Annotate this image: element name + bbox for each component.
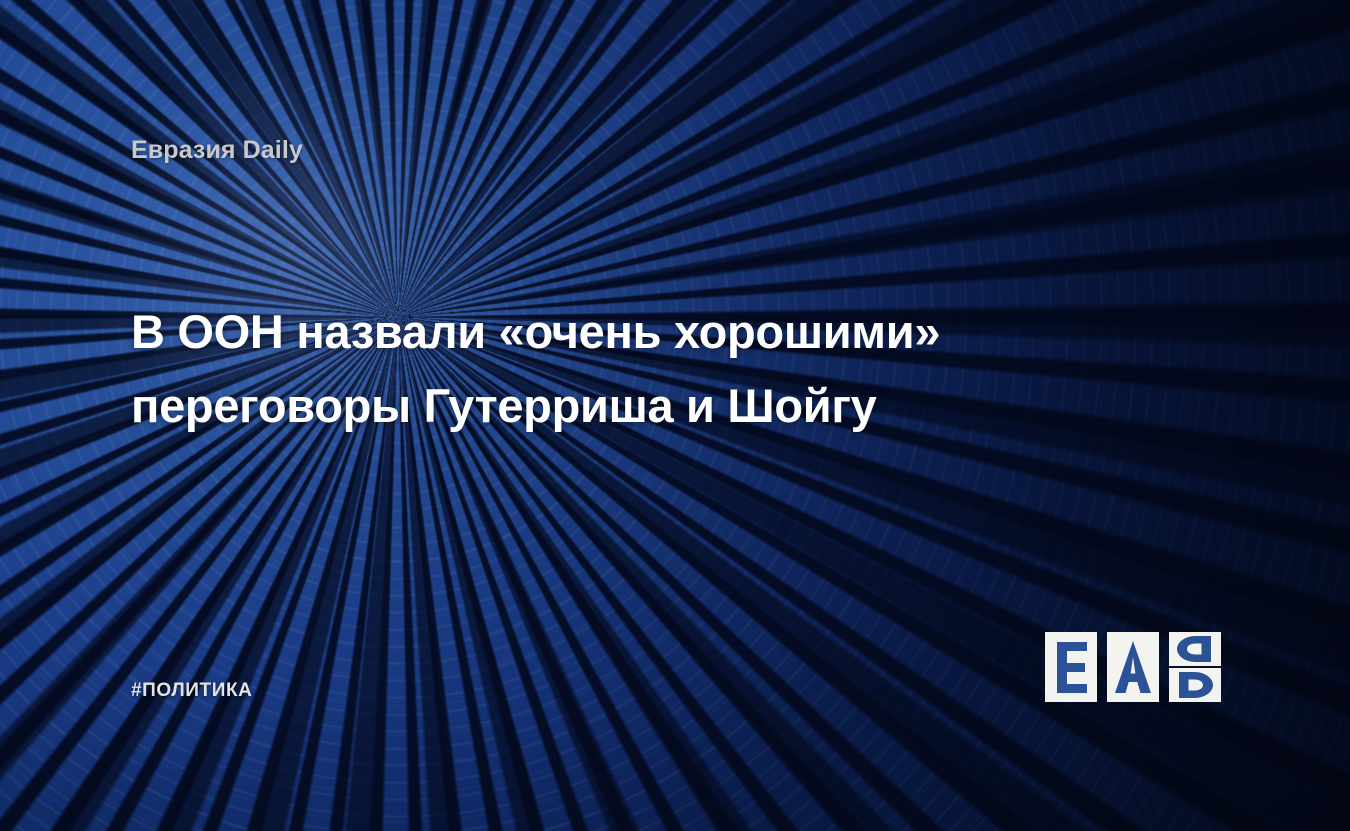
logo-tile-e <box>1045 632 1097 702</box>
headline-title: В ООН назвали «очень хорошими» переговор… <box>131 295 1111 443</box>
eadaily-logo[interactable] <box>1045 632 1221 702</box>
brand-wordmark: Евразия Daily <box>131 136 303 165</box>
logo-tile-d <box>1169 668 1221 702</box>
card-content: Евразия Daily В ООН назвали «очень хорош… <box>0 0 1350 831</box>
logo-tile-a <box>1107 632 1159 702</box>
logo-tile-d-inverted <box>1169 632 1221 666</box>
category-hashtag[interactable]: #ПОЛИТИКА <box>131 680 253 702</box>
news-card: Евразия Daily В ООН назвали «очень хорош… <box>0 0 1350 831</box>
